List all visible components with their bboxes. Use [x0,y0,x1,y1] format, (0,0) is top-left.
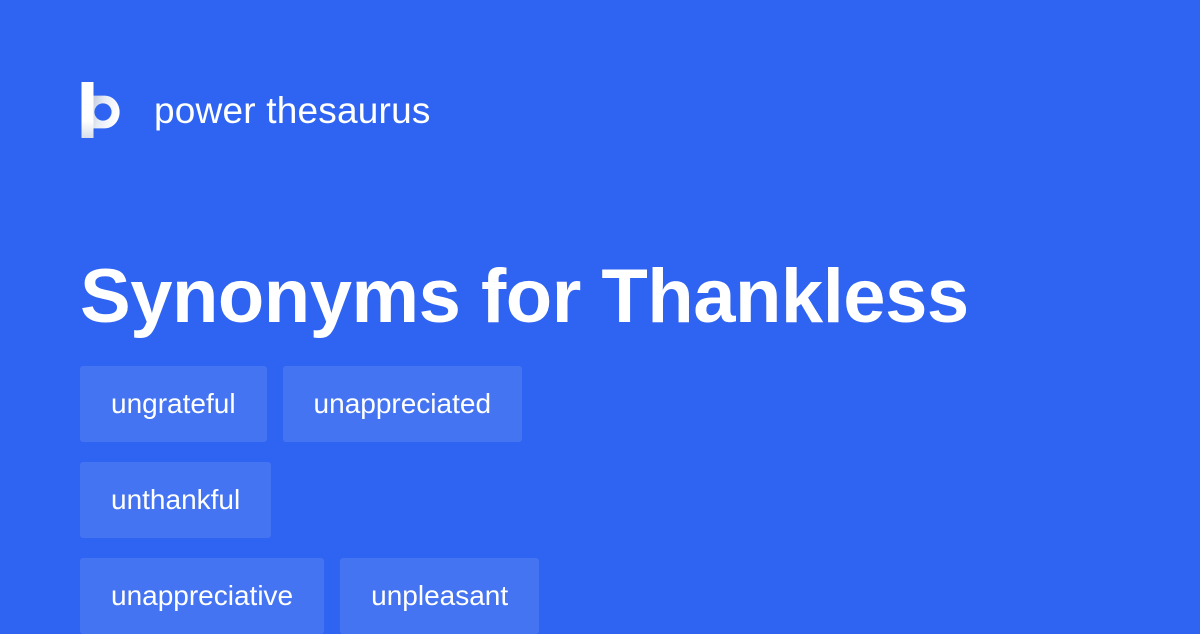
brand-lockup[interactable]: power thesaurus [80,78,431,142]
synonym-chip[interactable]: unpleasant [340,558,539,634]
synonym-chip[interactable]: unthankful [80,462,271,538]
synonym-chip[interactable]: unappreciated [283,366,522,442]
power-thesaurus-b-logo-icon [80,82,128,138]
brand-name: power thesaurus [154,92,431,129]
share-card: power thesaurus Synonyms for Thankless u… [0,0,1200,628]
synonym-label: unappreciative [111,582,293,610]
page-title: Synonyms for Thankless [80,251,1140,343]
synonym-chip-list: ungrateful unappreciated unthankful unap… [80,366,1140,634]
synonym-label: ungrateful [111,390,236,418]
synonym-chip[interactable]: ungrateful [80,366,267,442]
synonym-chip[interactable]: unappreciative [80,558,324,634]
synonym-label: unappreciated [314,390,491,418]
synonym-label: unpleasant [371,582,508,610]
synonym-label: unthankful [111,486,240,514]
